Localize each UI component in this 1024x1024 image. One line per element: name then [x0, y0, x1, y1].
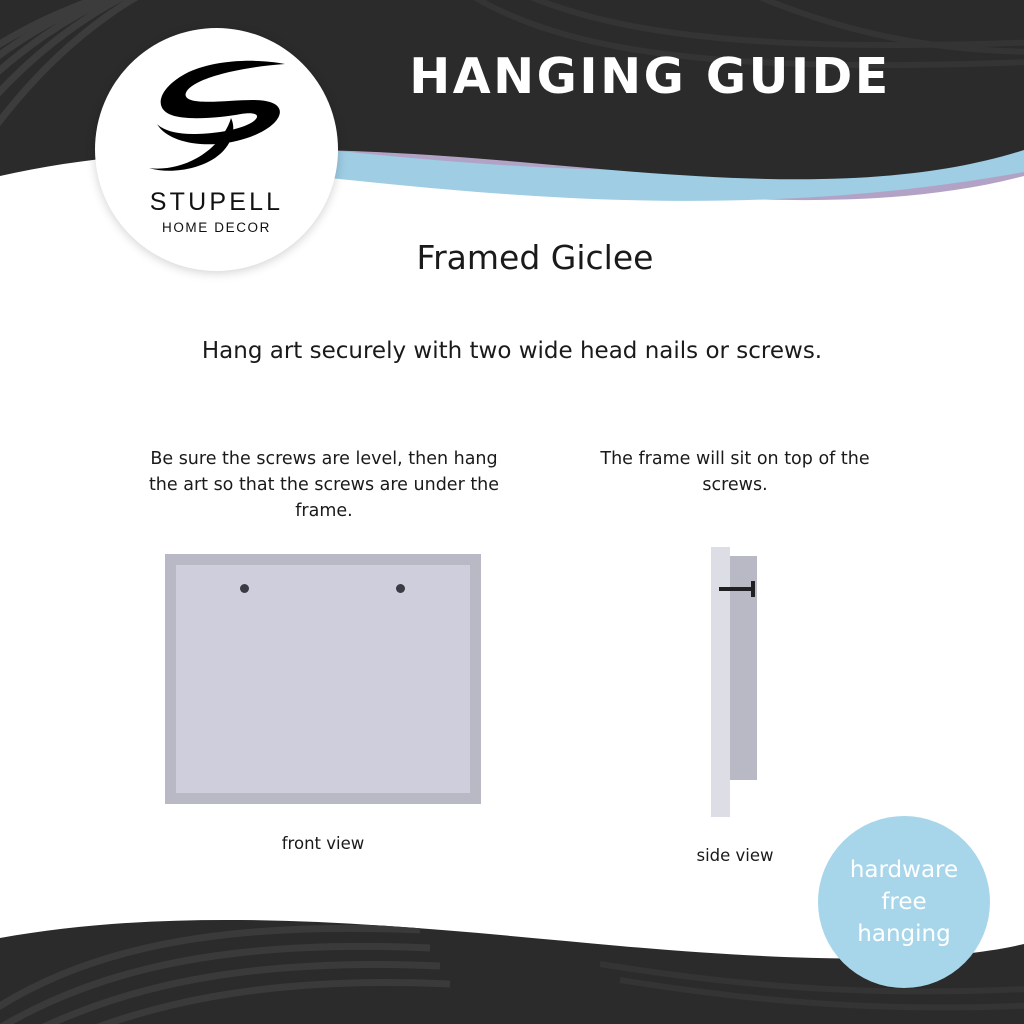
badge-line-2: free [850, 886, 958, 918]
badge-line-3: hanging [850, 918, 958, 950]
screw-right-icon [396, 584, 405, 593]
hanging-guide-page: HANGING GUIDE STUPELL HOME DECOR Framed … [0, 0, 1024, 1024]
lead-instruction: Hang art securely with two wide head nai… [62, 338, 962, 364]
page-title: HANGING GUIDE [340, 48, 960, 105]
logo-badge: STUPELL HOME DECOR [95, 28, 338, 271]
badge-text: hardware free hanging [850, 854, 958, 950]
front-view-frame [165, 554, 481, 804]
hardware-free-badge: hardware free hanging [818, 816, 990, 988]
front-view-caption: Be sure the screws are level, then hang … [140, 446, 508, 524]
front-view-art [176, 565, 470, 793]
product-type: Framed Giclee [300, 238, 770, 277]
badge-line-1: hardware [850, 854, 958, 886]
side-view-screw-head-icon [751, 581, 755, 597]
swirl-s-icon [135, 56, 297, 176]
side-view-caption: The frame will sit on top of the screws. [570, 446, 900, 498]
front-view-label: front view [185, 834, 461, 853]
logo-name: STUPELL [95, 188, 338, 217]
side-view-screw-icon [719, 587, 755, 591]
screw-left-icon [240, 584, 249, 593]
logo-subtitle: HOME DECOR [95, 220, 338, 235]
side-view-label: side view [610, 846, 860, 865]
